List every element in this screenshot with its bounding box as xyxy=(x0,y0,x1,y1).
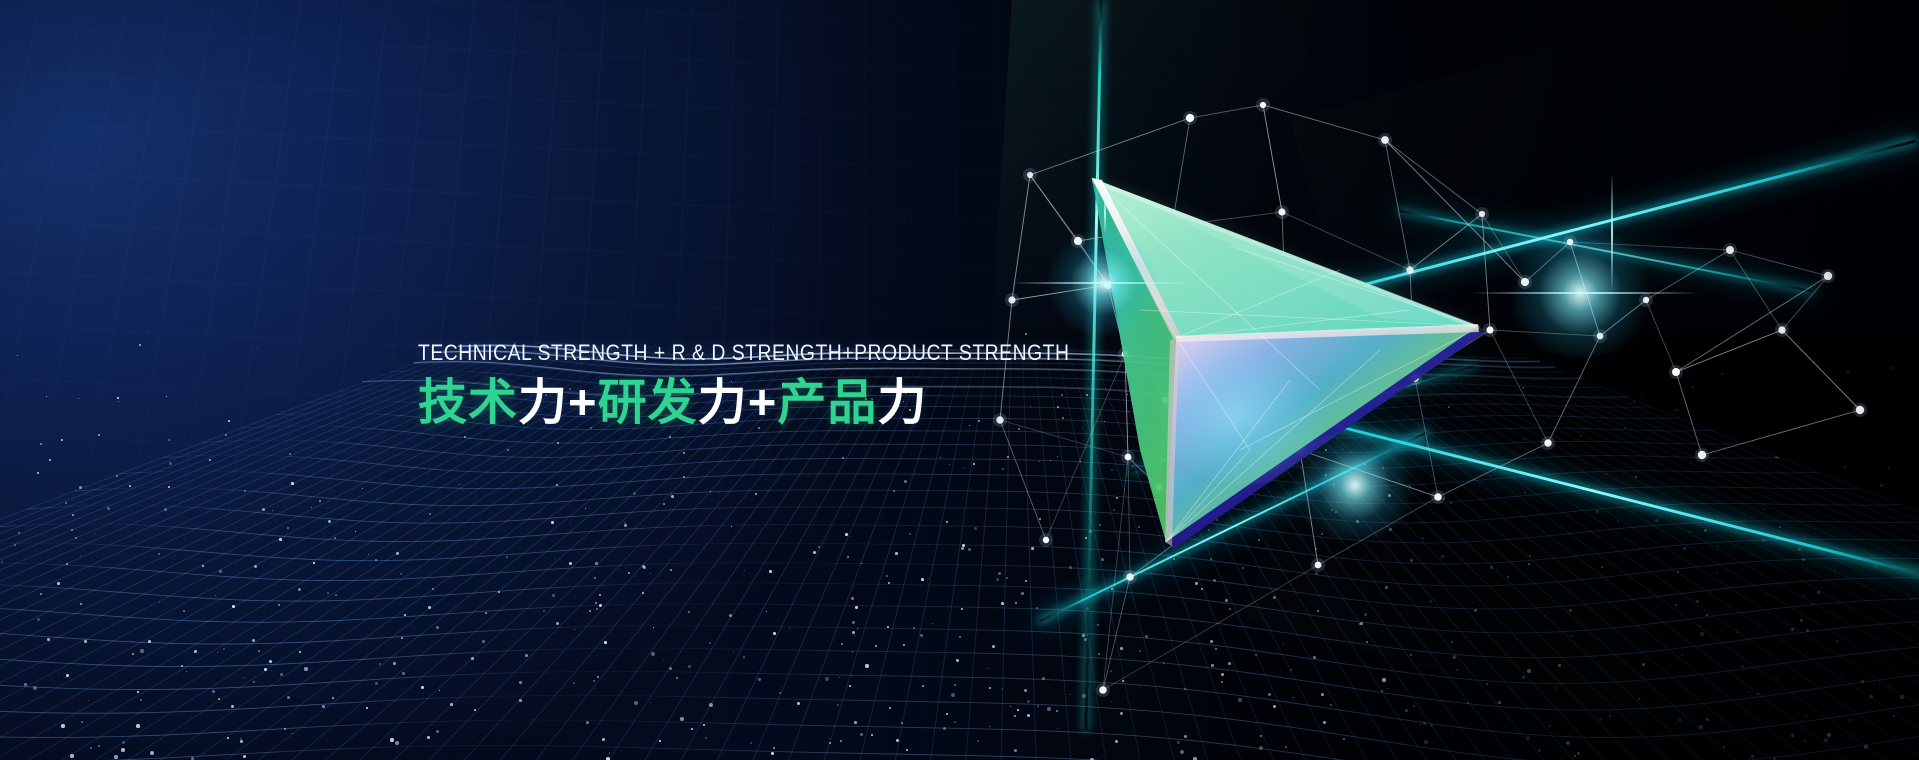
title-segment-1: 力 xyxy=(518,376,568,430)
flare-streak-h-right xyxy=(1470,292,1700,294)
network-node-29 xyxy=(1778,326,1785,333)
network-node-5 xyxy=(1099,686,1107,694)
network-node-33 xyxy=(1008,296,1015,303)
title-segment-7: 力 xyxy=(877,376,927,430)
network-node-35 xyxy=(1043,537,1049,543)
network-node-27 xyxy=(1698,451,1706,459)
network-node-31 xyxy=(1856,406,1864,414)
flare-streak-v-right xyxy=(1611,173,1613,293)
network-node-22 xyxy=(1544,439,1551,446)
title-segment-3: 研发 xyxy=(598,376,698,430)
network-node-25 xyxy=(1643,297,1649,303)
network-node-32 xyxy=(1027,172,1033,178)
subtitle-english: TECHNICAL STRENGTH + R & D STRENGTH+PROD… xyxy=(418,340,1069,366)
network-node-15 xyxy=(1381,136,1389,144)
network-node-10 xyxy=(1260,102,1266,108)
network-node-26 xyxy=(1672,368,1680,376)
title-segment-6: 产品 xyxy=(777,376,877,430)
network-node-21 xyxy=(1521,278,1529,286)
hero-banner: TECHNICAL STRENGTH + R & D STRENGTH+PROD… xyxy=(0,0,1919,760)
flare-streak-h-left xyxy=(1010,282,1200,284)
flare-streak-v-left xyxy=(1104,191,1106,235)
network-node-28 xyxy=(1726,246,1734,254)
title-chinese: 技术力+研发力+产品力 xyxy=(418,375,1176,433)
network-node-9 xyxy=(1186,114,1194,122)
network-node-24 xyxy=(1597,333,1604,340)
title-segment-2: + xyxy=(568,376,598,430)
title-segment-0: 技术 xyxy=(418,376,518,430)
title-segment-5: + xyxy=(748,376,778,430)
headline-block: TECHNICAL STRENGTH + R & D STRENGTH+PROD… xyxy=(418,340,1176,433)
network-node-23 xyxy=(1567,239,1574,246)
title-segment-4: 力 xyxy=(698,376,748,430)
network-node-30 xyxy=(1824,272,1832,280)
